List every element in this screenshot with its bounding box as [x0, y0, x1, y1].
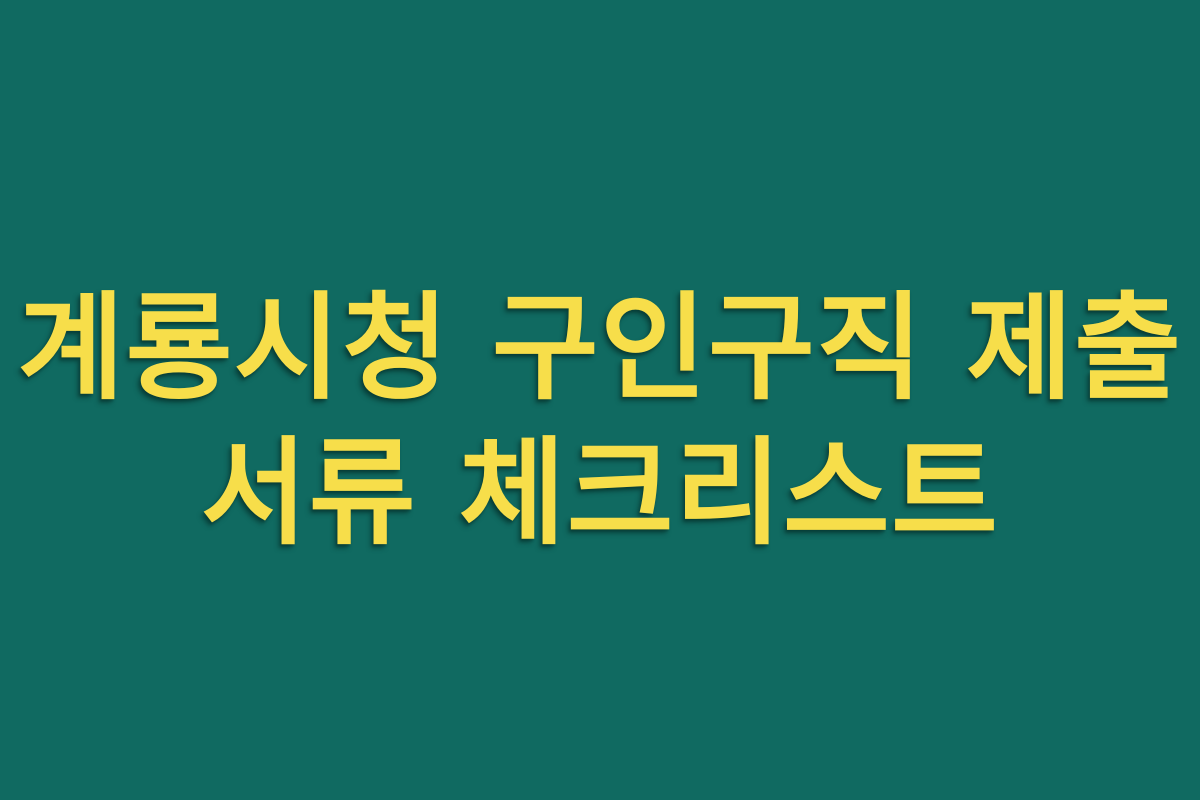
page-title: 계룡시청 구인구직 제출 서류 체크리스트: [0, 276, 1200, 566]
banner-canvas: 계룡시청 구인구직 제출 서류 체크리스트: [0, 0, 1200, 800]
title-line-1: 계룡시청 구인구직 제출: [0, 276, 1200, 421]
title-line-2: 서류 체크리스트: [0, 421, 1200, 566]
